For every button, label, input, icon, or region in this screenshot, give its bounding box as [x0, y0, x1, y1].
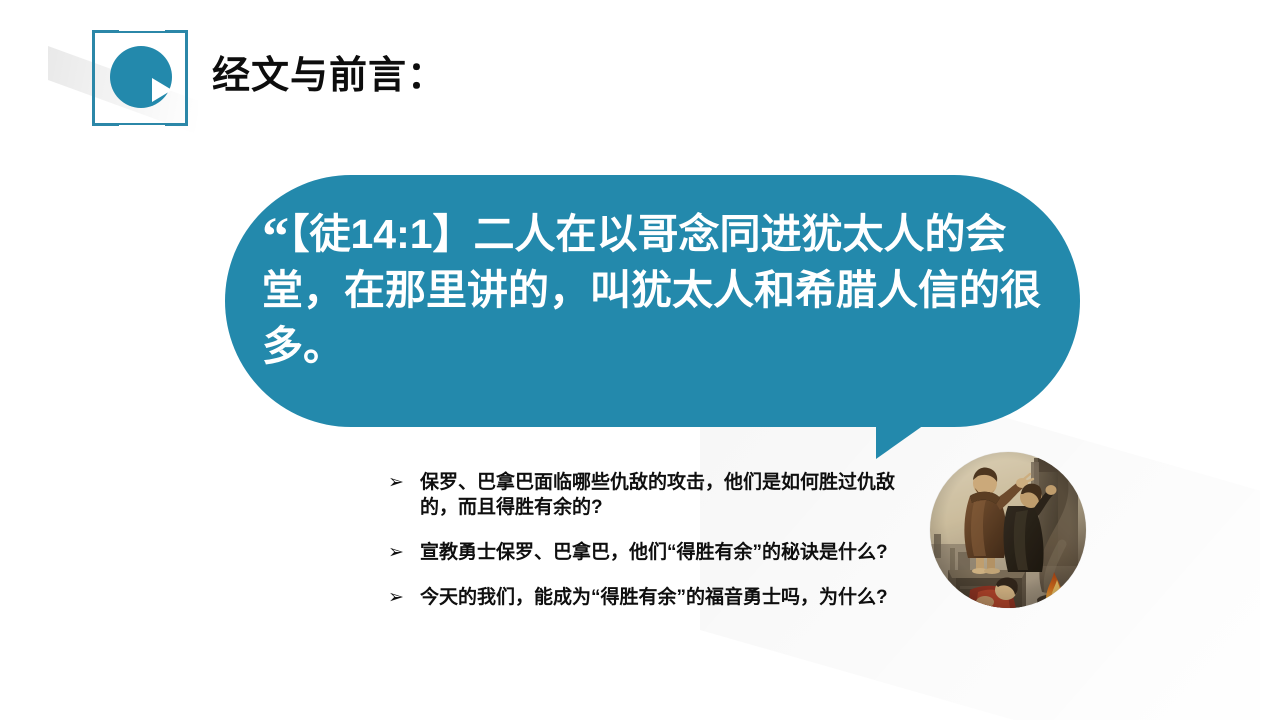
list-item: ➢ 保罗、巴拿巴面临哪些仇敌的攻击，他们是如何胜过仇敌的，而且得胜有余的?	[388, 470, 898, 520]
quote-bubble-tail	[876, 425, 924, 459]
quote-scripture-text: 【徒14:1】二人在以哥念同进犹太人的会堂，在那里讲的，叫犹太人和希腊人信的很多…	[262, 211, 1041, 369]
list-item-text: 保罗、巴拿巴面临哪些仇敌的攻击，他们是如何胜过仇敌的，而且得胜有余的?	[420, 470, 898, 520]
quote-text-block: “【徒14:1】二人在以哥念同进犹太人的会堂，在那里讲的，叫犹太人和希腊人信的很…	[262, 206, 1052, 374]
slide-header: 经文与前言：	[0, 0, 1280, 150]
discussion-question-list: ➢ 保罗、巴拿巴面临哪些仇敌的攻击，他们是如何胜过仇敌的，而且得胜有余的? ➢ …	[388, 470, 898, 630]
play-logo-mark	[92, 30, 188, 126]
logo-frame-notch-bottom	[119, 125, 165, 130]
list-item-text: 宣教勇士保罗、巴拿巴，他们“得胜有余”的秘诀是什么?	[420, 540, 898, 565]
play-circle-icon	[110, 46, 172, 108]
list-item: ➢ 今天的我们，能成为“得胜有余”的福音勇士吗，为什么?	[388, 585, 898, 610]
list-item: ➢ 宣教勇士保罗、巴拿巴，他们“得胜有余”的秘诀是什么?	[388, 540, 898, 565]
open-quote-mark: “	[262, 206, 285, 266]
paul-and-barnabas-painting	[930, 452, 1086, 608]
arrow-bullet-icon: ➢	[388, 585, 420, 610]
list-item-text: 今天的我们，能成为“得胜有余”的福音勇士吗，为什么?	[420, 585, 898, 610]
slide-canvas: 经文与前言： “【徒14:1】二人在以哥念同进犹太人的会堂，在那里讲的，叫犹太人…	[0, 0, 1280, 720]
page-title: 经文与前言：	[212, 44, 446, 99]
play-triangle-icon	[152, 78, 172, 102]
logo-frame-notch-top	[119, 26, 165, 31]
arrow-bullet-icon: ➢	[388, 470, 420, 495]
arrow-bullet-icon: ➢	[388, 540, 420, 565]
